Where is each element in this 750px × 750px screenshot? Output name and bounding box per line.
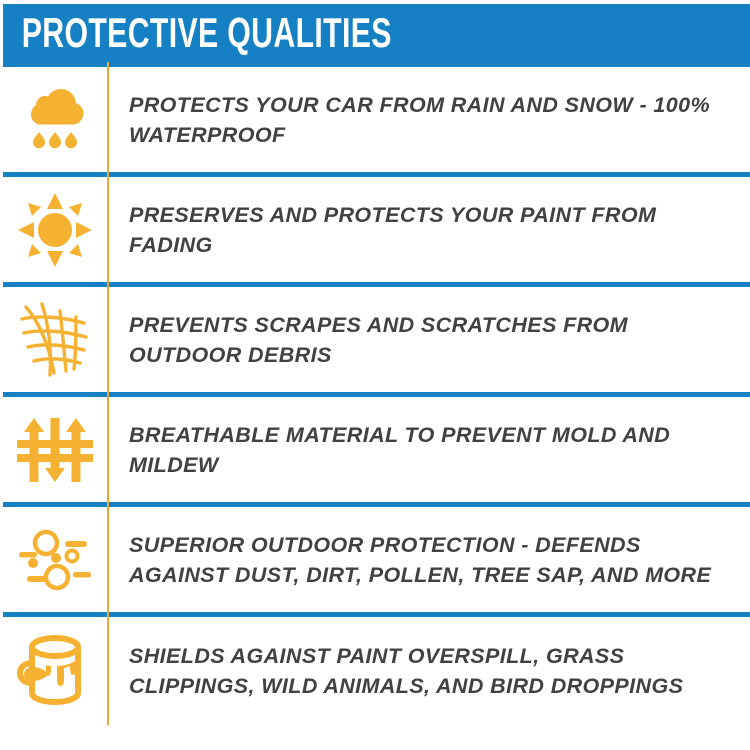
scratches-icon (18, 301, 92, 379)
sun-icon (18, 193, 92, 267)
text-cell: SUPERIOR OUTDOOR PROTECTION - DEFENDS AG… (107, 530, 750, 590)
list-item: SHIELDS AGAINST PAINT OVERSPILL, GRASS C… (3, 617, 750, 725)
icon-cell (3, 67, 107, 172)
text-cell: PRESERVES AND PROTECTS YOUR PAINT FROM F… (107, 200, 750, 260)
list-item: SUPERIOR OUTDOOR PROTECTION - DEFENDS AG… (3, 507, 750, 612)
list-item: PRESERVES AND PROTECTS YOUR PAINT FROM F… (3, 177, 750, 282)
list-item: BREATHABLE MATERIAL TO PREVENT MOLD AND … (3, 397, 750, 502)
feature-text: SUPERIOR OUTDOOR PROTECTION - DEFENDS AG… (129, 530, 736, 590)
paint-bucket-icon (16, 633, 94, 709)
feature-text: BREATHABLE MATERIAL TO PREVENT MOLD AND … (129, 420, 736, 480)
vertical-orange-divider (107, 62, 109, 725)
page-title: PROTECTIVE QUALITIES (3, 12, 392, 54)
dust-particles-icon (15, 525, 95, 595)
feature-text: PROTECTS YOUR CAR FROM RAIN AND SNOW - 1… (129, 90, 736, 150)
icon-cell (3, 507, 107, 612)
list-item: PREVENTS SCRAPES AND SCRATCHES FROM OUTD… (3, 287, 750, 392)
icon-cell (3, 397, 107, 502)
header-bar: PROTECTIVE QUALITIES (3, 4, 750, 62)
rain-cloud-icon (18, 83, 92, 157)
feature-text: PREVENTS SCRAPES AND SCRATCHES FROM OUTD… (129, 310, 736, 370)
feature-text: SHIELDS AGAINST PAINT OVERSPILL, GRASS C… (129, 641, 736, 701)
text-cell: BREATHABLE MATERIAL TO PREVENT MOLD AND … (107, 420, 750, 480)
text-cell: PREVENTS SCRAPES AND SCRATCHES FROM OUTD… (107, 310, 750, 370)
list-item: PROTECTS YOUR CAR FROM RAIN AND SNOW - 1… (3, 67, 750, 172)
protective-qualities-infographic: PROTECTIVE QUALITIES (0, 0, 750, 750)
text-cell: PROTECTS YOUR CAR FROM RAIN AND SNOW - 1… (107, 90, 750, 150)
breathable-airflow-icon (17, 412, 93, 488)
feature-list: PROTECTS YOUR CAR FROM RAIN AND SNOW - 1… (3, 62, 750, 725)
feature-text: PRESERVES AND PROTECTS YOUR PAINT FROM F… (129, 200, 736, 260)
text-cell: SHIELDS AGAINST PAINT OVERSPILL, GRASS C… (107, 641, 750, 701)
icon-cell (3, 177, 107, 282)
icon-cell (3, 287, 107, 392)
icon-cell (3, 617, 107, 725)
